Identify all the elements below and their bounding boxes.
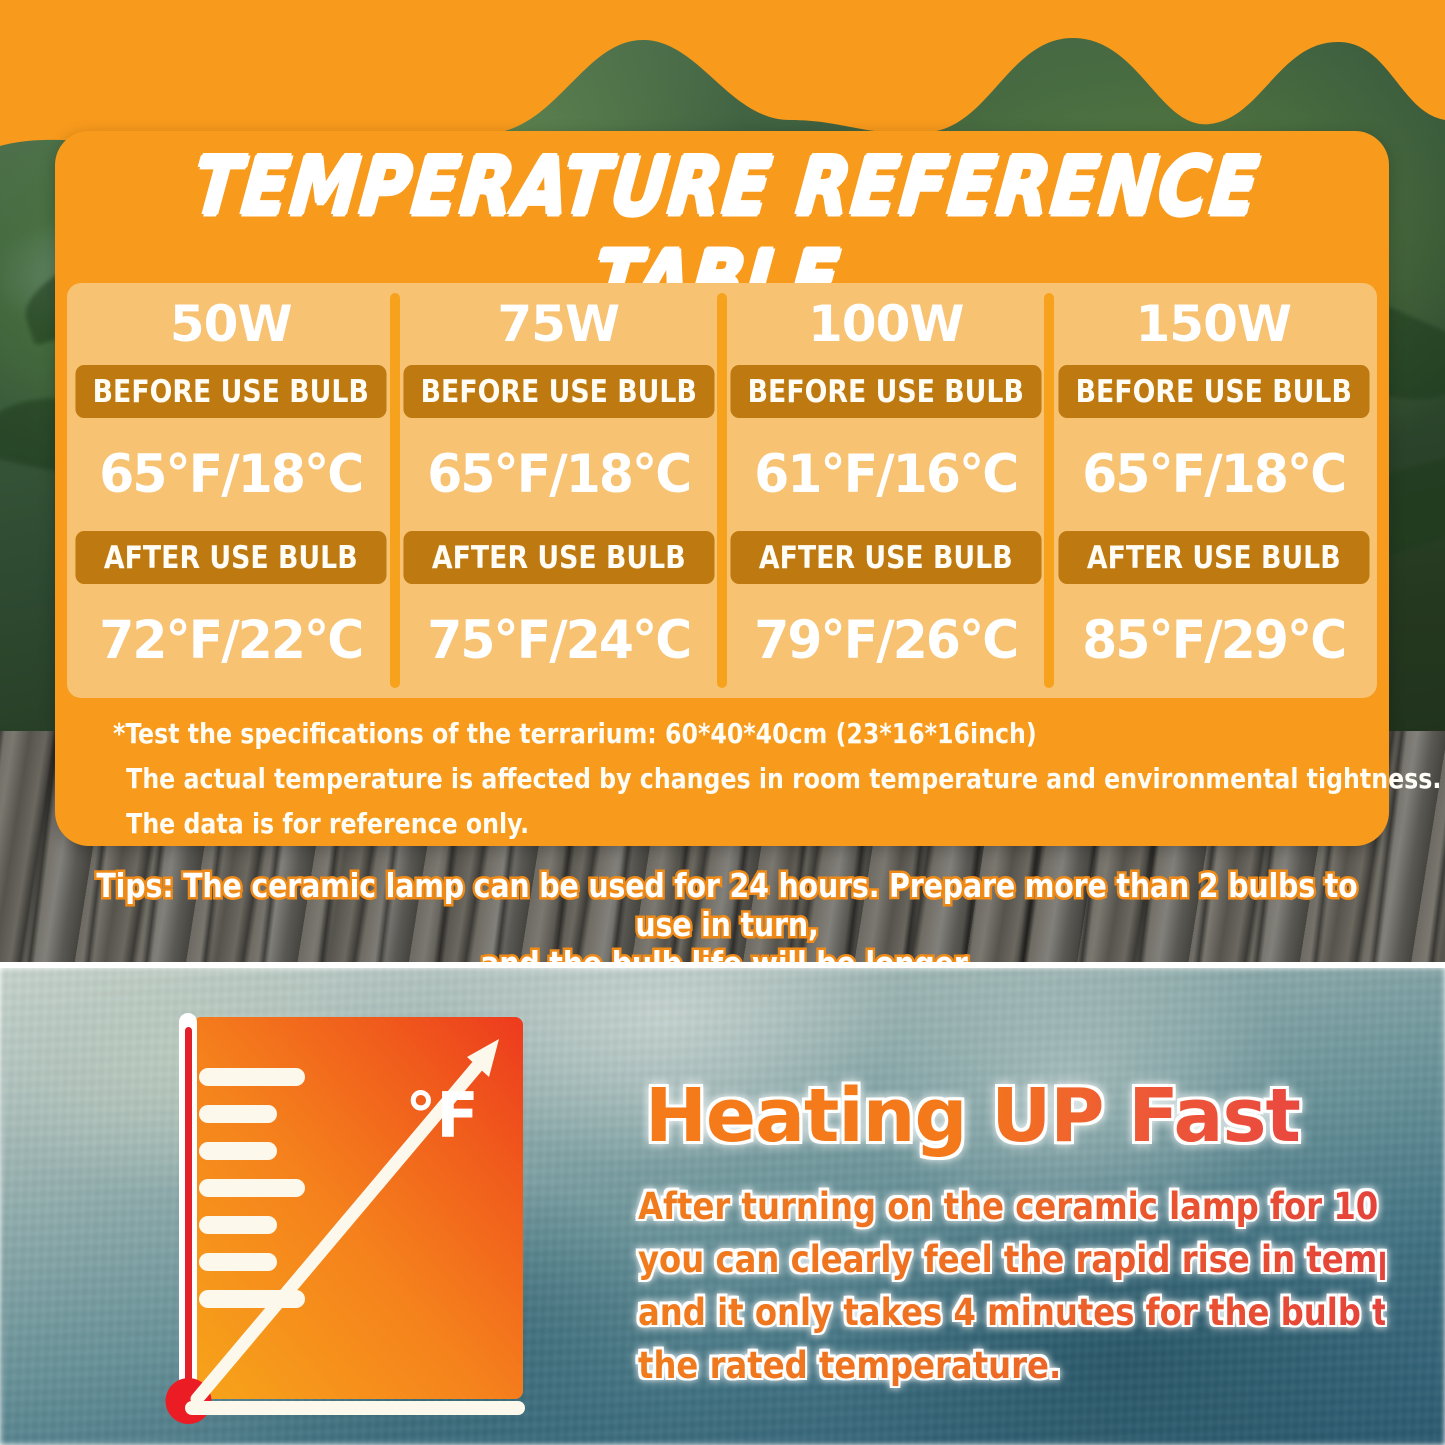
after-use-temp: 79°F/26°C: [730, 584, 1041, 697]
wattage-header: 50W: [67, 283, 395, 365]
temperature-reference-card: TEMPERATURE REFERENCE TABLE 50W BEFORE U…: [55, 131, 1389, 846]
tick-mark-short: [199, 1105, 277, 1123]
description-line-3: and it only takes 4 minutes for the bulb…: [638, 1286, 1385, 1339]
tick-mark-short: [199, 1142, 277, 1160]
table-grid: 50W BEFORE USE BULB 65°F/18°C AFTER USE …: [67, 283, 1377, 698]
infographic-page: TEMPERATURE REFERENCE TABLE 50W BEFORE U…: [0, 0, 1445, 1445]
x-axis-baseline: [185, 1401, 525, 1415]
after-use-temp: 75°F/24°C: [403, 584, 714, 697]
heating-headline: Heating UP Fast: [645, 1073, 1300, 1159]
table-column-50w: 50W BEFORE USE BULB 65°F/18°C AFTER USE …: [67, 283, 395, 698]
heating-chart-icon: °F: [155, 1005, 555, 1430]
tips-line-1: Tips: The ceramic lamp can be used for 2…: [96, 866, 1357, 944]
fahrenheit-unit-label: °F: [405, 1079, 478, 1152]
after-use-bulb-label: AFTER USE BULB: [75, 531, 386, 584]
temperature-table: 50W BEFORE USE BULB 65°F/18°C AFTER USE …: [67, 283, 1377, 698]
after-use-bulb-label: AFTER USE BULB: [403, 531, 714, 584]
column-divider: [390, 293, 400, 688]
footnote-line-3: The data is for reference only.: [113, 801, 1288, 846]
after-use-temp: 85°F/29°C: [1058, 584, 1369, 697]
before-use-temp: 65°F/18°C: [1058, 418, 1369, 531]
heating-description: After turning on the ceramic lamp for 10…: [638, 1180, 1385, 1392]
before-use-temp: 65°F/18°C: [403, 418, 714, 531]
section-divider: [0, 962, 1445, 968]
tick-mark-long: [199, 1068, 305, 1086]
table-column-75w: 75W BEFORE USE BULB 65°F/18°C AFTER USE …: [395, 283, 723, 698]
after-use-bulb-label: AFTER USE BULB: [730, 531, 1041, 584]
wattage-header: 150W: [1050, 283, 1378, 365]
wattage-header: 75W: [395, 283, 723, 365]
table-column-150w: 150W BEFORE USE BULB 65°F/18°C AFTER USE…: [1050, 283, 1378, 698]
before-use-temp: 61°F/16°C: [730, 418, 1041, 531]
table-column-100w: 100W BEFORE USE BULB 61°F/16°C AFTER USE…: [722, 283, 1050, 698]
description-line-1: After turning on the ceramic lamp for 10…: [638, 1180, 1385, 1233]
after-use-temp: 72°F/22°C: [75, 584, 386, 697]
before-use-bulb-label: BEFORE USE BULB: [403, 365, 714, 418]
thermometer-mercury: [185, 1027, 192, 1399]
column-divider: [717, 293, 727, 688]
top-section: TEMPERATURE REFERENCE TABLE 50W BEFORE U…: [0, 0, 1445, 966]
before-use-temp: 65°F/18°C: [75, 418, 386, 531]
before-use-bulb-label: BEFORE USE BULB: [75, 365, 386, 418]
description-line-2: you can clearly feel the rapid rise in t…: [638, 1233, 1385, 1286]
footnote-text: *Test the specifications of the terrariu…: [113, 711, 1288, 846]
tips-text: Tips: The ceramic lamp can be used for 2…: [89, 866, 1366, 966]
footnote-line-2: The actual temperature is affected by ch…: [113, 756, 1288, 801]
before-use-bulb-label: BEFORE USE BULB: [730, 365, 1041, 418]
wattage-header: 100W: [722, 283, 1050, 365]
tick-mark-long: [199, 1179, 305, 1197]
description-line-4: the rated temperature.: [638, 1339, 1385, 1392]
column-divider: [1044, 293, 1054, 688]
after-use-bulb-label: AFTER USE BULB: [1058, 531, 1369, 584]
before-use-bulb-label: BEFORE USE BULB: [1058, 365, 1369, 418]
footnote-line-1: *Test the specifications of the terrariu…: [113, 711, 1288, 756]
tick-mark-short: [199, 1253, 277, 1271]
tick-mark-short: [199, 1216, 277, 1234]
